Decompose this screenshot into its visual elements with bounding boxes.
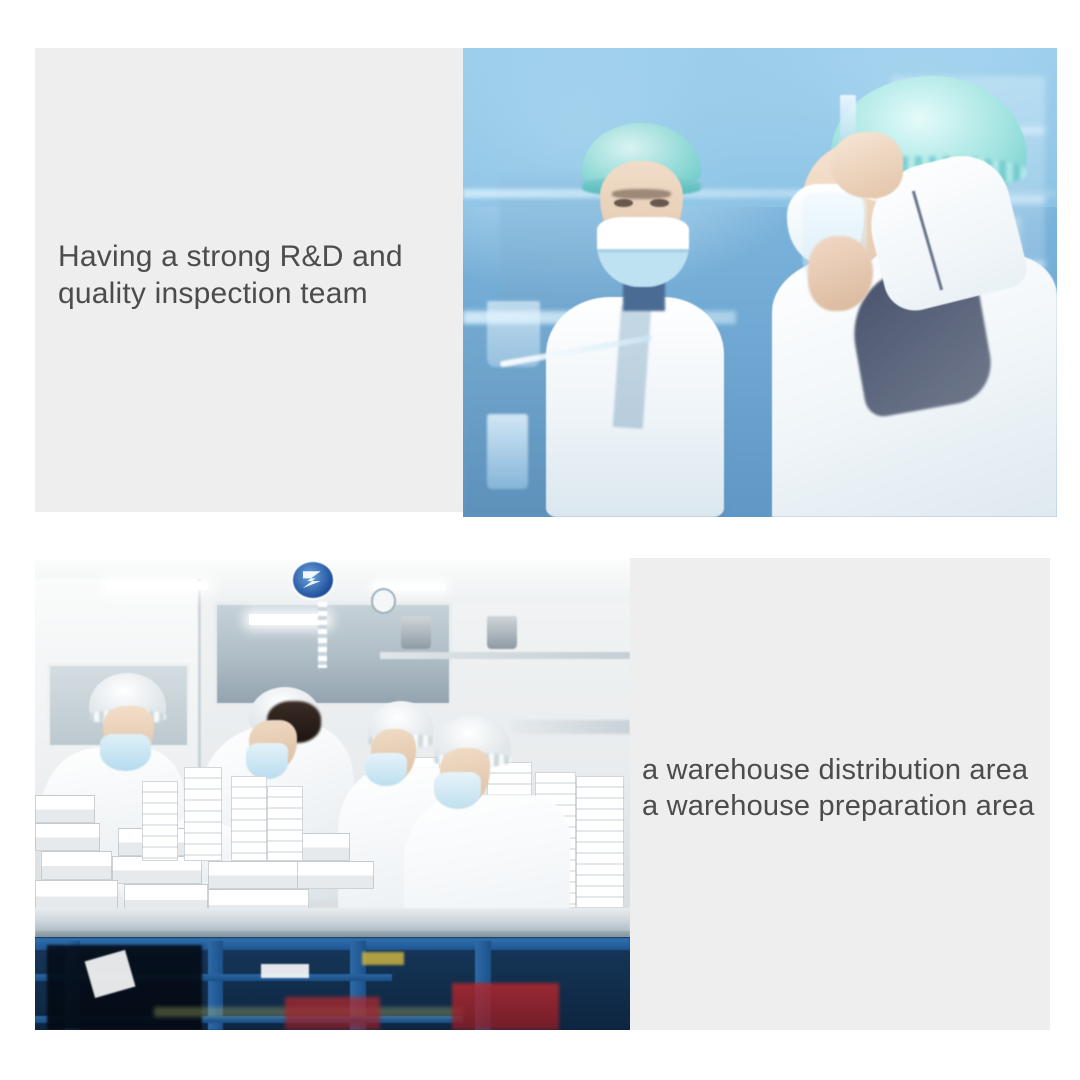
carton-box <box>208 861 303 889</box>
ceiling-light <box>106 581 207 590</box>
caption-warehouse-areas: a warehouse distribution area a warehous… <box>642 752 1052 824</box>
carton-box <box>35 823 100 851</box>
hand-holding-flask <box>831 132 902 198</box>
banner-page: Having a strong R&D and quality inspecti… <box>0 0 1080 1080</box>
loose-paper <box>261 964 309 978</box>
caption-rnd-quality: Having a strong R&D and quality inspecti… <box>58 238 458 312</box>
worker-two-face-mask <box>246 743 288 778</box>
ceiling-light <box>249 614 326 625</box>
stainless-container <box>487 616 517 649</box>
carton-stack <box>231 776 267 861</box>
sample-vial <box>487 414 529 489</box>
hand-lower <box>808 236 873 311</box>
stainless-container <box>401 616 431 649</box>
carton-stack <box>184 767 223 861</box>
worker-three-face-mask <box>365 753 407 786</box>
lab-quality-inspection-photo <box>463 48 1057 517</box>
carton-stack <box>267 786 303 861</box>
right-counter <box>511 720 630 734</box>
hanging-strip-curtain <box>318 602 328 668</box>
carton-box <box>297 861 374 889</box>
stainless-table-top <box>35 908 630 934</box>
worker-four-face-mask <box>434 772 482 810</box>
section-rnd-quality: Having a strong R&D and quality inspecti… <box>0 0 1080 530</box>
carton-box <box>41 851 112 879</box>
technician-left-brow <box>612 189 671 199</box>
lab-scene <box>463 48 1057 517</box>
carton-stack <box>576 776 624 908</box>
technician-left-mask-fold <box>598 250 687 252</box>
carton-box <box>35 795 95 823</box>
section-warehouse-areas: a warehouse distribution area a warehous… <box>0 530 1080 1080</box>
red-object <box>452 983 559 1030</box>
yellow-tape-marker <box>362 952 404 964</box>
right-shelf <box>380 652 630 660</box>
warehouse-packing-photo <box>35 560 630 1030</box>
warehouse-scene <box>35 560 630 1030</box>
red-object <box>285 997 380 1030</box>
carton-stack <box>142 781 178 861</box>
wall-clock <box>371 588 396 613</box>
